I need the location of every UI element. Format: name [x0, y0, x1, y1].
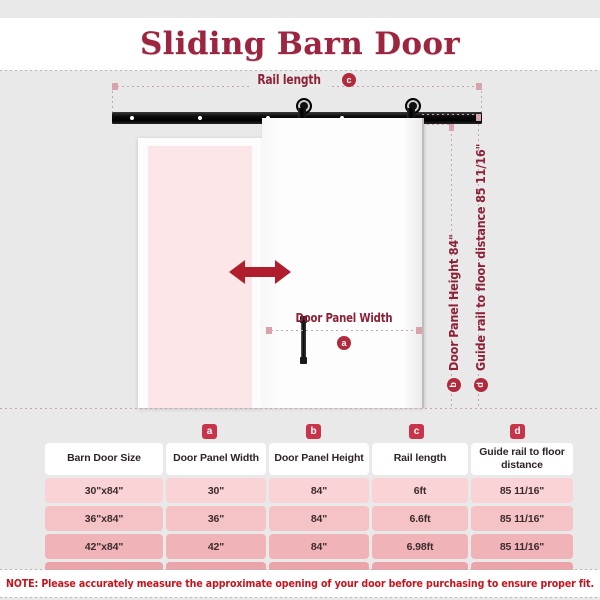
guide-rail-label: Guide rail to floor distance 85 11/16"	[473, 144, 488, 371]
guide-rail-label-group: d Guide rail to floor distance 85 11/16"	[473, 144, 488, 392]
guide-rail-lead-line	[422, 114, 481, 115]
dimension-cap-left	[266, 327, 272, 334]
rail-length-dimension-line	[112, 86, 482, 87]
table-header-cell: Guide rail to floor distance	[471, 443, 573, 475]
table-badge-c-icon: c	[409, 424, 424, 439]
table-header-cell: Barn Door Size	[45, 443, 163, 475]
table-cell: 42"	[166, 534, 266, 559]
table-cell: 84"	[269, 506, 369, 531]
rail-bolt	[130, 116, 134, 120]
rail-extension-right	[481, 86, 482, 112]
infographic-page: Sliding Barn Door Rail length c	[0, 0, 600, 600]
table-cell: 85 11/16"	[471, 506, 573, 531]
rail-extension-left	[112, 86, 113, 112]
table-header-row: Barn Door Size Door Panel Width Door Pan…	[45, 443, 573, 475]
table-row: 30"x84" 30" 84" 6ft 85 11/16"	[45, 478, 573, 503]
table-row: 42"x84" 42" 84" 6.98ft 85 11/16"	[45, 534, 573, 559]
table-cell: 84"	[269, 478, 369, 503]
rail-bolt	[198, 116, 202, 120]
table-cell: 36"	[166, 506, 266, 531]
badge-b-icon: b	[447, 378, 461, 392]
table-badge-a-icon: a	[202, 424, 217, 439]
table-header-cell: Door Panel Width	[166, 443, 266, 475]
table-cell: 6.6ft	[372, 506, 468, 531]
table-row: 36"x84" 36" 84" 6.6ft 85 11/16"	[45, 506, 573, 531]
table-badge-b-icon: b	[306, 424, 321, 439]
spec-table-wrap: a b c d Barn Door Size Door Panel Width …	[42, 424, 558, 590]
dimension-cap-top-d	[476, 114, 481, 121]
table-cell: 6.98ft	[372, 534, 468, 559]
door-panel-height-label: Door Panel Height 84"	[446, 234, 461, 371]
table-cell: 6ft	[372, 478, 468, 503]
door-panel-width-label: Door Panel Width	[274, 310, 414, 325]
badge-a-icon: a	[337, 336, 351, 350]
table-cell: 84"	[269, 534, 369, 559]
table-header-cell: Rail length	[372, 443, 468, 475]
floor-line	[0, 408, 600, 409]
note-text: NOTE: Please accurately measure the appr…	[0, 570, 600, 597]
table-cell: 36"x84"	[45, 506, 163, 531]
divider-under-title	[0, 70, 600, 71]
table-cell: 85 11/16"	[471, 534, 573, 559]
table-cell: 30"x84"	[45, 478, 163, 503]
spec-table: Barn Door Size Door Panel Width Door Pan…	[42, 440, 576, 590]
title-band: Sliding Barn Door	[0, 18, 600, 70]
slide-direction-arrow-icon	[229, 257, 291, 287]
table-cell: 30"	[166, 478, 266, 503]
page-title: Sliding Barn Door	[140, 26, 460, 62]
table-header-cell: Door Panel Height	[269, 443, 369, 475]
table-badge-row: a b c d	[42, 424, 558, 440]
table-cell: 42"x84"	[45, 534, 163, 559]
door-panel-height-label-group: b Door Panel Height 84"	[446, 234, 461, 392]
dimension-cap-top-b	[449, 124, 454, 131]
badge-d-icon: d	[474, 378, 488, 392]
badge-c-icon: c	[342, 73, 356, 87]
door-panel-width-dimension-line	[266, 330, 422, 331]
table-badge-d-icon: d	[510, 424, 525, 439]
dimension-cap-right	[416, 327, 422, 334]
badge-a-group: a	[266, 336, 422, 350]
barn-door-diagram: Rail length c	[0, 72, 600, 420]
table-cell: 85 11/16"	[471, 478, 573, 503]
divider-below-note	[0, 597, 600, 598]
